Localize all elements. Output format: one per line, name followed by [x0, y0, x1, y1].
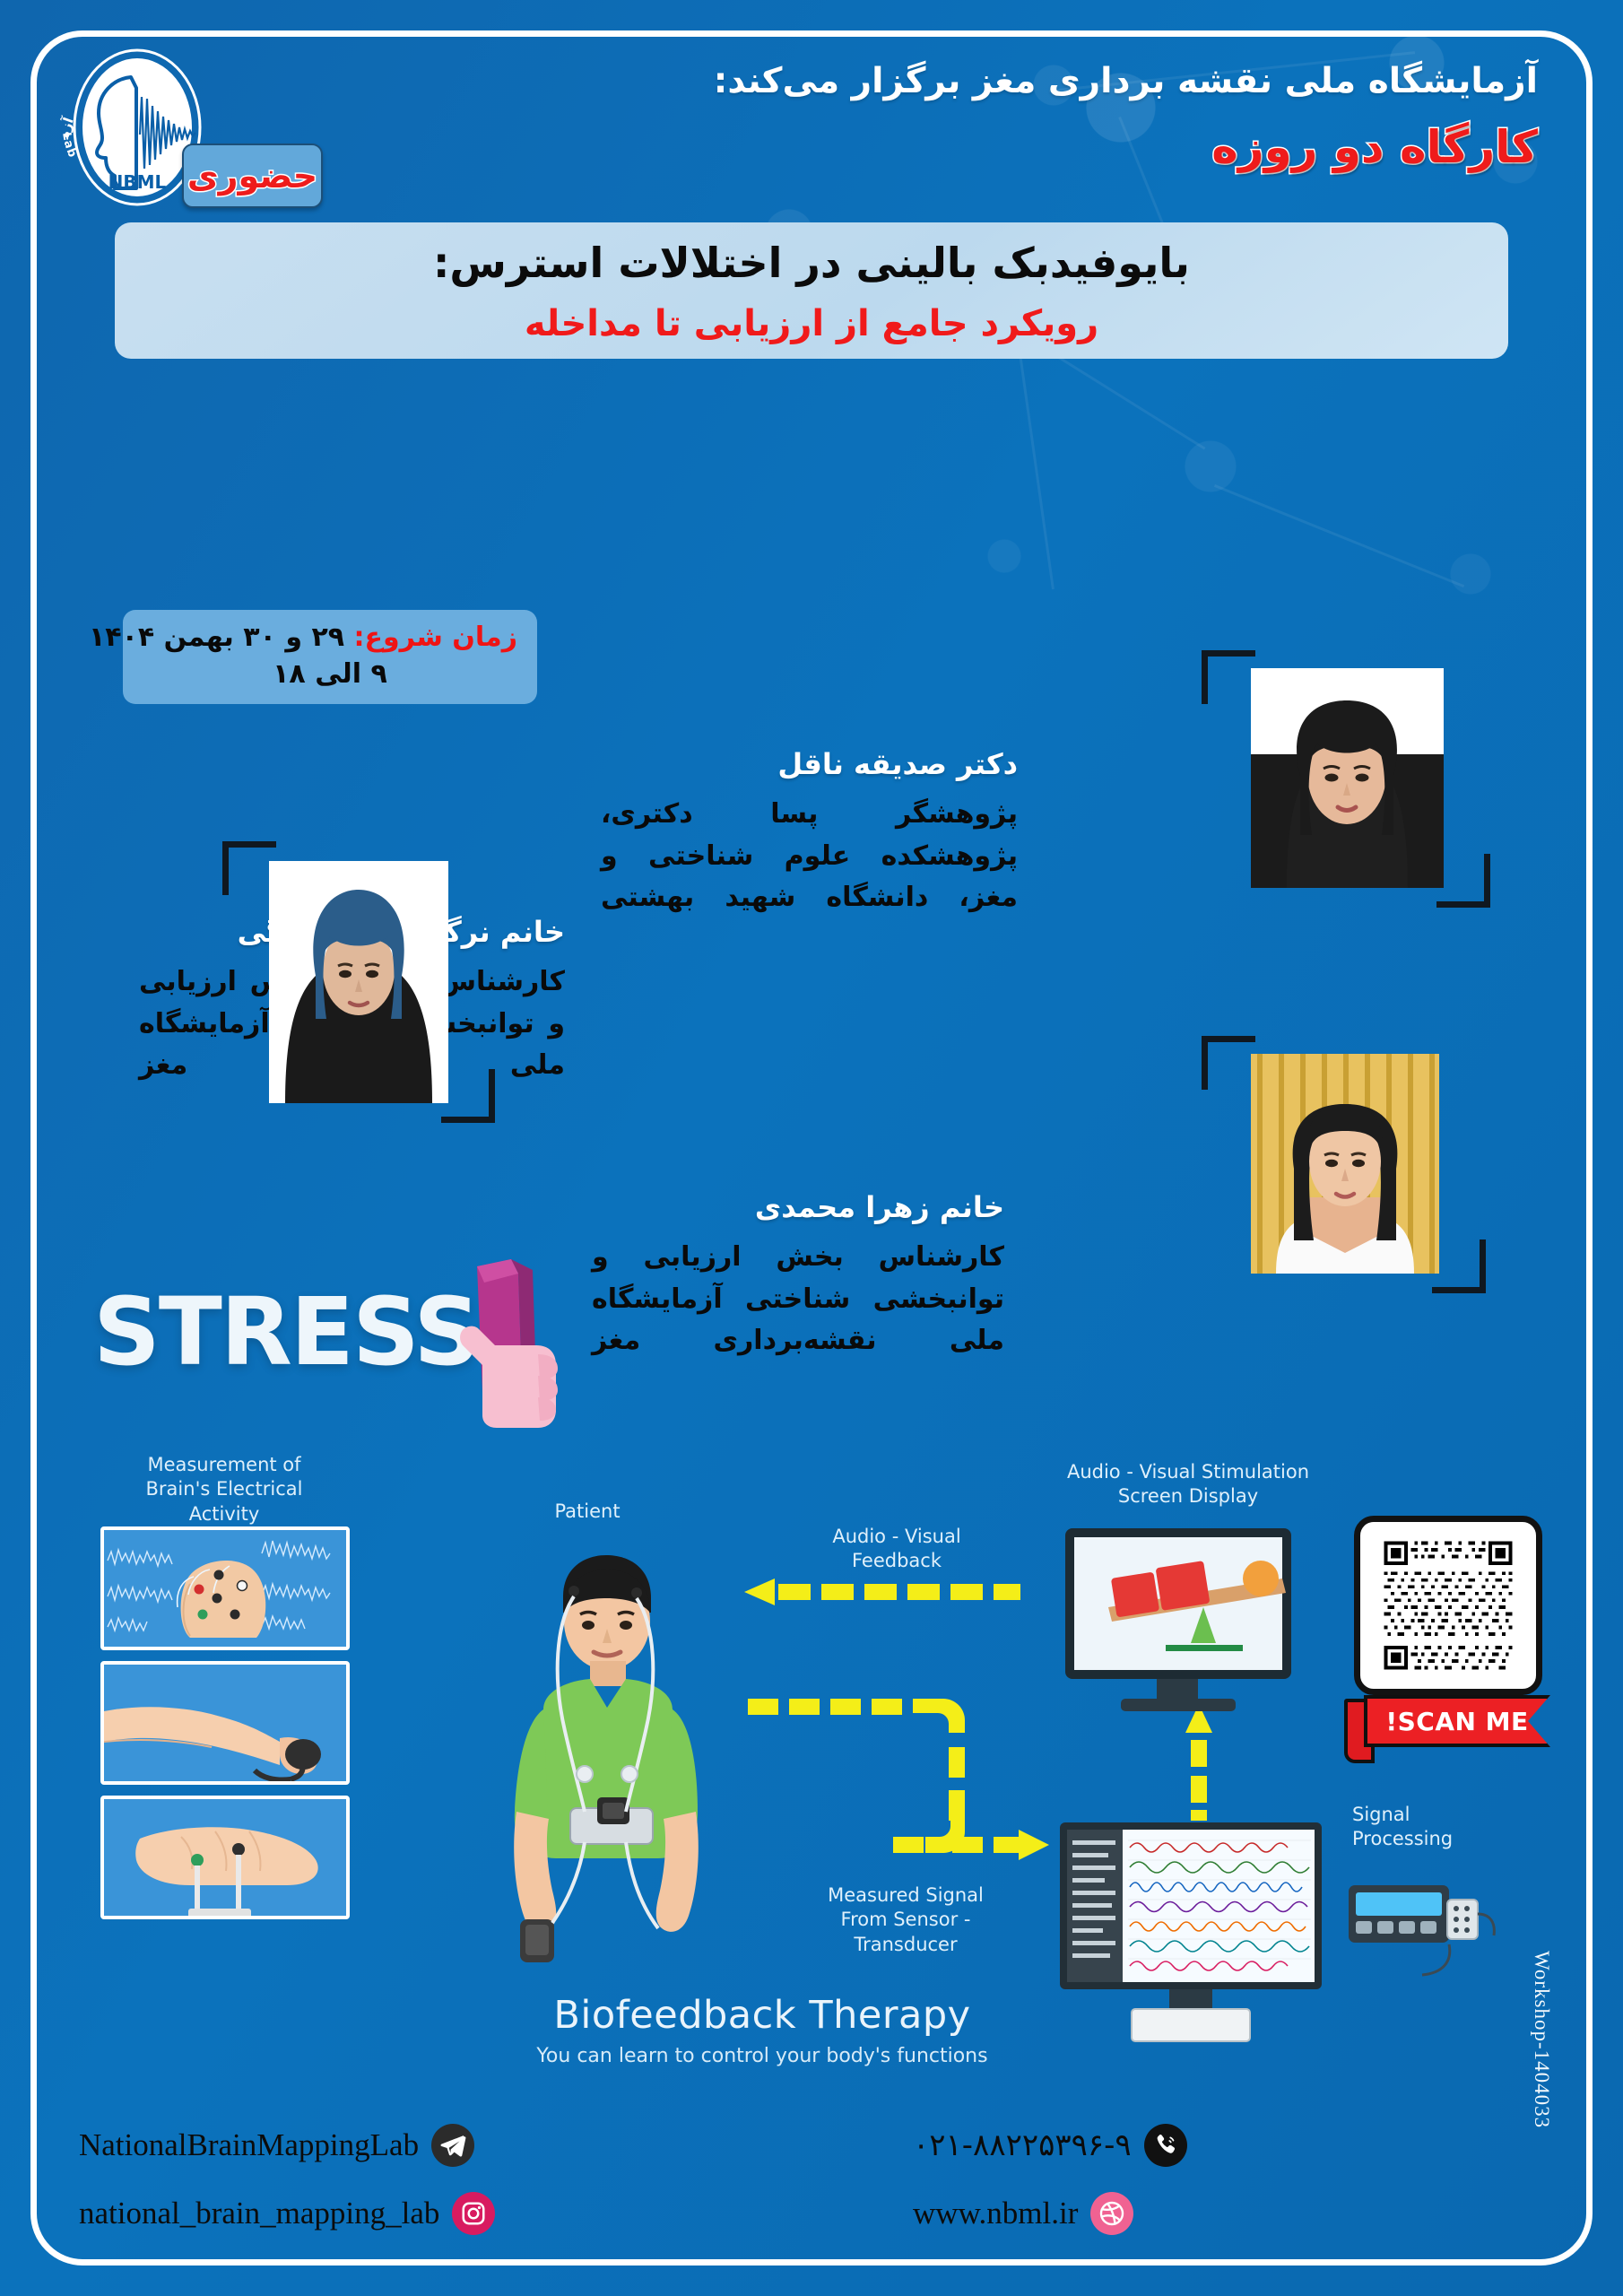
biofeedback-headline: Biofeedback Therapy — [484, 1993, 1040, 2038]
measured-signal-l2: From Sensor - Transducer — [789, 1908, 1022, 1957]
svg-text:National Brain Mapping Lab: National Brain Mapping Lab — [43, 34, 79, 161]
biofeedback-tagline: You can learn to control your body's fun… — [466, 2045, 1058, 2067]
hand-holding-card-icon — [456, 1257, 563, 1428]
speaker-photo-1 — [1251, 668, 1444, 888]
attendance-badge: حضوری — [182, 143, 323, 208]
title-panel: بایوفیدبک بالینی در اختلالات استرس: رویک… — [115, 222, 1508, 359]
svg-text:NBML: NBML — [108, 171, 167, 193]
workshop-kicker: کارگاه دو روزه — [444, 121, 1538, 173]
speaker-name-1: دکتر صدیقه ناقل — [777, 747, 1018, 781]
instagram-handle: national_brain_mapping_lab — [79, 2196, 439, 2231]
audio-visual-stimulation-label: Audio - Visual Stimulation Screen Displa… — [1049, 1460, 1327, 1509]
workshop-title: بایوفیدبک بالینی در اختلالات استرس: — [165, 235, 1458, 291]
footer-phone[interactable]: ۰۲۱-۸۸۲۲۵۳۹۶-۹ — [913, 2124, 1187, 2167]
workshop-code: Workshop-1404033 — [1530, 1951, 1553, 2128]
arm-sensor-panel — [100, 1661, 350, 1785]
scan-me-ribbon: SCAN ME! — [1344, 1695, 1550, 1747]
workshop-subtitle: رویکرد جامع از ارزیابی تا مداخله — [165, 303, 1458, 344]
phone-number: ۰۲۱-۸۸۲۲۵۳۹۶-۹ — [913, 2127, 1132, 2163]
attendance-badge-label: حضوری — [187, 156, 317, 196]
website-url: www.nbml.ir — [913, 2196, 1078, 2231]
stimulation-monitor — [1058, 1525, 1318, 1722]
signal-processing-label: Signal Processing — [1352, 1803, 1469, 1852]
av-stim-l2: Screen Display — [1049, 1484, 1327, 1509]
footer-telegram[interactable]: NationalBrainMappingLab — [79, 2124, 474, 2167]
scan-me-label: SCAN ME! — [1385, 1707, 1528, 1736]
stress-word: STRESS — [93, 1277, 479, 1387]
speaker-photo-3 — [1251, 1054, 1439, 1274]
footer-instagram[interactable]: national_brain_mapping_lab — [79, 2192, 495, 2235]
signal-processing-l1: Signal — [1352, 1803, 1469, 1827]
measured-signal-arrow — [744, 1695, 1049, 1901]
hand-sensor-panel — [100, 1796, 350, 1919]
schedule-box: زمان شروع: ۲۹ و ۳۰ بهمن ۱۴۰۴ ۹ الی ۱۸ — [123, 610, 537, 704]
poster-root: NBML National Brain Mapping Lab آزمایشگا… — [0, 0, 1623, 2296]
svg-text:آزمایشگاه ملی نقشه‌برداری مغز: آزمایشگاه ملی نقشه‌برداری مغز — [43, 34, 77, 141]
telegram-handle: NationalBrainMappingLab — [79, 2127, 419, 2163]
amplifier-device — [1336, 1864, 1497, 1980]
av-feedback-l1: Audio - Visual — [807, 1525, 986, 1549]
speaker-name-3: خانم زهرا محمدی — [755, 1190, 1004, 1224]
schedule-dates: ۲۹ و ۳۰ بهمن ۱۴۰۴ — [89, 622, 344, 653]
patient-figure — [466, 1543, 735, 2009]
phone-icon — [1144, 2124, 1187, 2167]
speaker-bio-1: پژوهشگر پسا دکتری، پژوهشکده علوم شناختی … — [601, 794, 1018, 919]
signal-processing-l2: Processing — [1352, 1827, 1469, 1851]
speaker-bio-3: کارشناس بخش ارزیابی و توانبخشی شناختی آز… — [592, 1237, 1004, 1362]
schedule-dates-line: زمان شروع: ۲۹ و ۳۰ بهمن ۱۴۰۴ — [143, 622, 517, 653]
measurement-label-l1: Measurement of — [108, 1453, 341, 1477]
qr-code[interactable] — [1354, 1516, 1542, 1695]
audio-visual-feedback-label: Audio - Visual Feedback — [807, 1525, 986, 1574]
av-stim-l1: Audio - Visual Stimulation — [1049, 1460, 1327, 1484]
instagram-icon — [452, 2192, 495, 2235]
schedule-hours: ۹ الی ۱۸ — [143, 658, 517, 690]
telegram-icon — [431, 2124, 474, 2167]
schedule-label: زمان شروع: — [354, 622, 517, 653]
feedback-arrow-left — [744, 1578, 1031, 1605]
measurement-label-l2: Brain's Electrical Activity — [108, 1477, 341, 1526]
patient-label: Patient — [538, 1500, 637, 1524]
organizer-line: آزمایشگاه ملی نقشه برداری مغز برگزار می‌… — [444, 61, 1538, 101]
dribbble-icon — [1090, 2192, 1133, 2235]
background-network-line — [1214, 484, 1464, 587]
ribbon-body: SCAN ME! — [1364, 1695, 1550, 1747]
signal-processing-monitor — [1056, 1821, 1325, 2045]
av-feedback-l2: Feedback — [807, 1549, 986, 1573]
eeg-head-panel — [100, 1526, 350, 1650]
footer-website[interactable]: www.nbml.ir — [913, 2192, 1133, 2235]
speaker-photo-2 — [269, 861, 448, 1103]
